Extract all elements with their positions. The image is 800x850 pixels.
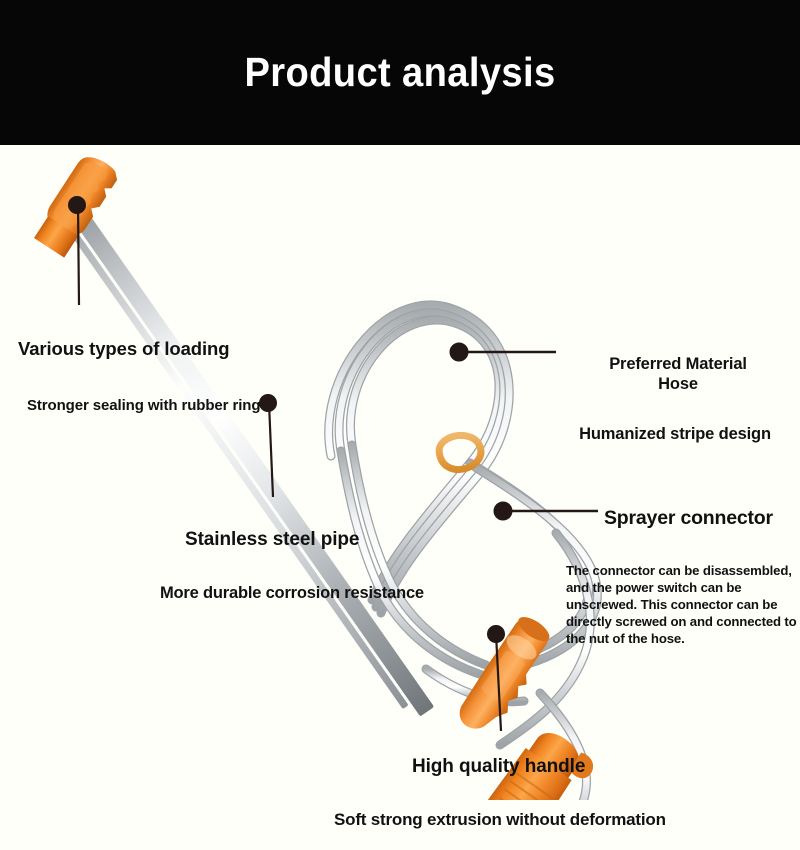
callout-high-quality-handle: High quality handle Soft strong extrusio…: [330, 735, 750, 850]
page-title: Product analysis: [28, 0, 772, 145]
callout-various-types-of-loading: Various types of loading Stronger sealin…: [18, 318, 288, 435]
callout-pipe-subtitle: More durable corrosion resistance: [160, 583, 515, 603]
callout-hose-subtitle: Humanized stripe design: [547, 424, 800, 444]
callout-loading-title: Various types of loading: [18, 338, 288, 361]
callout-sprayer-connector: Sprayer connector The connector can be d…: [566, 486, 800, 667]
callout-stainless-steel-pipe: Stainless steel pipe More durable corros…: [185, 508, 515, 623]
callout-hose-title: Preferred Material Hose: [553, 354, 800, 395]
product-analysis-page: Product analysis: [0, 0, 800, 800]
product-illustration: [0, 145, 800, 800]
callout-preferred-material-hose: Preferred Material Hose Humanized stripe…: [553, 334, 800, 464]
sprayer-connector: [453, 612, 559, 741]
callout-sprayer-title: Sprayer connector: [604, 506, 800, 530]
callout-pipe-title: Stainless steel pipe: [185, 528, 515, 552]
stainless-steel-pipe: [59, 199, 434, 717]
callout-handle-subtitle: Soft strong extrusion without deformatio…: [334, 809, 750, 830]
callout-loading-subtitle: Stronger sealing with rubber ring: [27, 397, 288, 416]
callout-handle-title: High quality handle: [412, 755, 750, 779]
callout-sprayer-body: The connector can be disassembled, and t…: [566, 562, 800, 648]
